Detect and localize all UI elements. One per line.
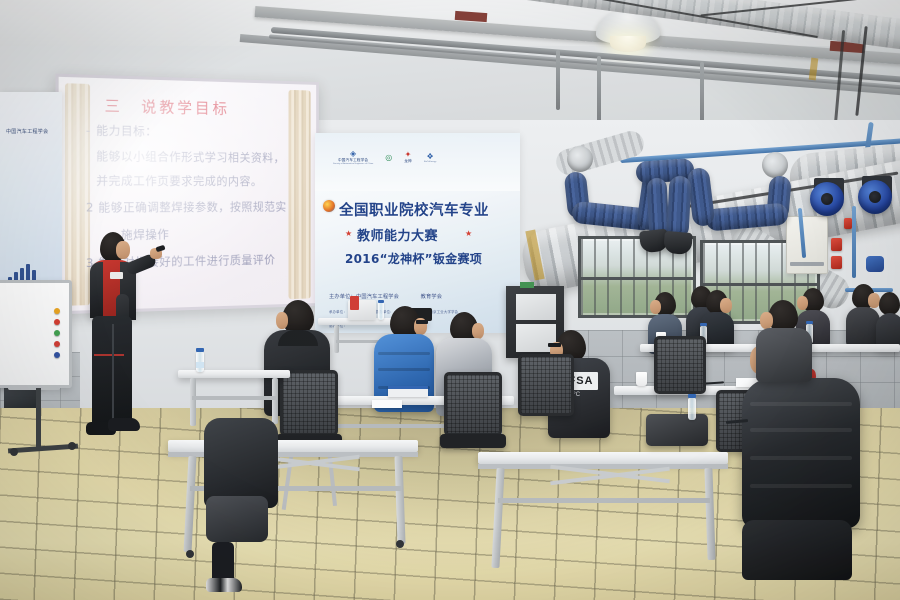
whiteboard-caster <box>10 448 18 456</box>
presenter-trouser-stripe <box>94 354 124 356</box>
slide-column-decor-right <box>288 90 310 299</box>
banner-logo-mark-icon: ◈ <box>350 150 356 158</box>
chair-back-fsa[interactable] <box>518 354 574 416</box>
paper-cup <box>636 372 647 386</box>
red-socket-icon[interactable] <box>831 256 842 269</box>
chair-back-mid[interactable] <box>444 372 502 436</box>
banner-logo-3: ✦龙神 <box>404 151 412 164</box>
whiteboard-magnet <box>54 330 60 336</box>
water-bottle <box>688 398 696 420</box>
audience-person-right-mid <box>756 300 812 380</box>
classroom-scene: 三 说教学目标 - 能力目标： 能够以小组合作形式学习相关资料， 并完成工作页要… <box>0 0 900 600</box>
table-foreground-left <box>178 370 290 378</box>
lamp-glow <box>610 36 646 52</box>
whiteboard-magnets <box>54 308 60 358</box>
red-socket-icon[interactable] <box>844 218 852 229</box>
whiteboard[interactable] <box>0 280 72 388</box>
torso-black-puffer <box>742 378 860 528</box>
cabinet-door-upper <box>516 294 556 320</box>
window-mullion <box>581 277 693 280</box>
banner-logo-en-text: Society of Automotive Engineers of China <box>333 163 373 165</box>
presenter-shoe-right <box>108 418 140 431</box>
bottle-label <box>196 362 204 368</box>
head <box>879 292 900 315</box>
slide-subtitle: 能力目标： <box>96 122 157 139</box>
puffer-seam <box>750 456 852 460</box>
legs <box>206 496 268 542</box>
table-crossbar <box>192 396 276 400</box>
puffer-seam <box>378 352 430 355</box>
chair-back-left[interactable] <box>280 370 338 436</box>
banner-emblem-icon <box>323 200 335 212</box>
audience-person-foreground-left <box>204 418 284 588</box>
table-foreground-right <box>478 452 728 464</box>
banner-logo-mark-icon: ◎ <box>385 154 392 162</box>
presenter-trouser-seam <box>112 324 114 424</box>
table-leg <box>190 378 196 426</box>
presenter-jacket-panel <box>90 262 103 318</box>
banner-sponsor-line: 主办单位：中国汽车工程学会 教育学会 <box>329 293 442 300</box>
wall-conduit <box>597 56 601 128</box>
hose-reel-left[interactable] <box>810 182 844 216</box>
slide-bullet-marker: - <box>86 123 91 137</box>
sneaker <box>206 578 242 592</box>
red-cup <box>350 296 359 310</box>
whiteboard-magnet <box>54 352 60 358</box>
table-caster <box>396 540 404 548</box>
glasses-icon <box>548 343 561 347</box>
torso <box>204 418 278 508</box>
chair-mesh <box>283 373 335 433</box>
banner-logo-2: ◎ <box>385 154 392 162</box>
banner-logo-4: ❖RuiTeEnergy <box>424 153 437 163</box>
window-mullion <box>703 283 817 286</box>
face <box>276 312 288 329</box>
fume-arm-collar-right <box>762 152 788 178</box>
paper-sheet <box>372 400 402 408</box>
bottle-cap <box>378 300 384 303</box>
table-leg <box>334 325 339 353</box>
lower-body <box>742 520 852 580</box>
table-edge <box>478 464 728 469</box>
left-banner-logo-text: 中国汽车工程学会 <box>6 128 48 135</box>
face <box>472 323 484 339</box>
laptop-bag <box>646 414 708 446</box>
banner-logo-en-text: RuiTeEnergy <box>424 161 437 163</box>
banner-logo-mark-icon: ✦ <box>405 151 412 159</box>
blue-hose-drop <box>852 206 856 278</box>
glasses-icon <box>416 320 428 324</box>
chair-mesh <box>447 375 499 433</box>
whiteboard-magnet <box>54 308 60 314</box>
audience-person-far-6 <box>876 292 900 348</box>
presenter <box>82 232 144 447</box>
face <box>760 312 773 329</box>
left-banner: 中国汽车工程学会 <box>0 92 62 292</box>
main-banner: ◈中国汽车工程学会Society of Automotive Engineers… <box>315 133 520 333</box>
banner-logo-1: ◈中国汽车工程学会Society of Automotive Engineers… <box>333 150 373 165</box>
slide-line-1: 能够以小组合作形式学习相关资料， <box>96 148 284 166</box>
red-socket-icon[interactable] <box>831 238 842 251</box>
table-caster <box>186 550 194 558</box>
presenter-face <box>116 241 130 259</box>
presenter-badge <box>110 272 123 279</box>
banner-line-1: 全国职业院校汽车专业 <box>339 199 489 220</box>
whiteboard-magnet <box>54 319 60 325</box>
slide-line-3: 2 能够正确调整焊接参数，按照规范实 <box>86 199 287 216</box>
puffer-seam <box>750 484 852 488</box>
bottle-cap <box>700 323 707 326</box>
bottle-cap <box>196 348 204 352</box>
chair-mesh <box>657 339 703 391</box>
banner-star-left-icon: ★ <box>345 229 352 238</box>
whiteboard-magnet <box>54 341 60 347</box>
torso <box>756 328 812 382</box>
chair-back-right-far[interactable] <box>654 336 706 394</box>
hose-reel-right[interactable] <box>858 180 892 214</box>
banner-line-2: 教师能力大赛 <box>357 225 438 244</box>
chair-mesh <box>521 357 571 413</box>
face <box>650 300 661 314</box>
whiteboard-marker-tray <box>8 385 60 390</box>
banner-logo-cn-text: 龙神 <box>404 159 412 164</box>
banner-star-right-icon: ★ <box>465 229 472 238</box>
puffer-seam <box>378 368 430 371</box>
puffer-seam <box>750 402 852 406</box>
banner-logo-mark-icon: ❖ <box>427 153 434 161</box>
cabinet-sticker <box>520 282 534 288</box>
clipboard-clip <box>388 386 428 389</box>
slide-title: 三 说教学目标 <box>105 95 300 121</box>
fume-arm-drop[interactable] <box>666 175 691 238</box>
blue-valve-icon[interactable] <box>866 256 884 272</box>
wall-conduit <box>556 50 560 110</box>
chair-seat-mid[interactable] <box>440 434 506 448</box>
whiteboard-post <box>36 388 41 448</box>
face <box>720 298 732 313</box>
table-crossbar <box>498 498 710 503</box>
puffer-seam <box>750 428 852 432</box>
slide-line-2: 并完成工作页要求完成的内容。 <box>96 172 262 189</box>
banner-sponsor-logos: ◈中国汽车工程学会Society of Automotive Engineers… <box>333 150 436 165</box>
bottle-cap <box>688 394 696 398</box>
banner-line-3: 2016“龙神杯”钣金赛项 <box>345 250 482 267</box>
panel-label <box>790 262 824 266</box>
whiteboard-caster <box>68 442 76 450</box>
fume-arm-collar-left <box>567 146 593 172</box>
